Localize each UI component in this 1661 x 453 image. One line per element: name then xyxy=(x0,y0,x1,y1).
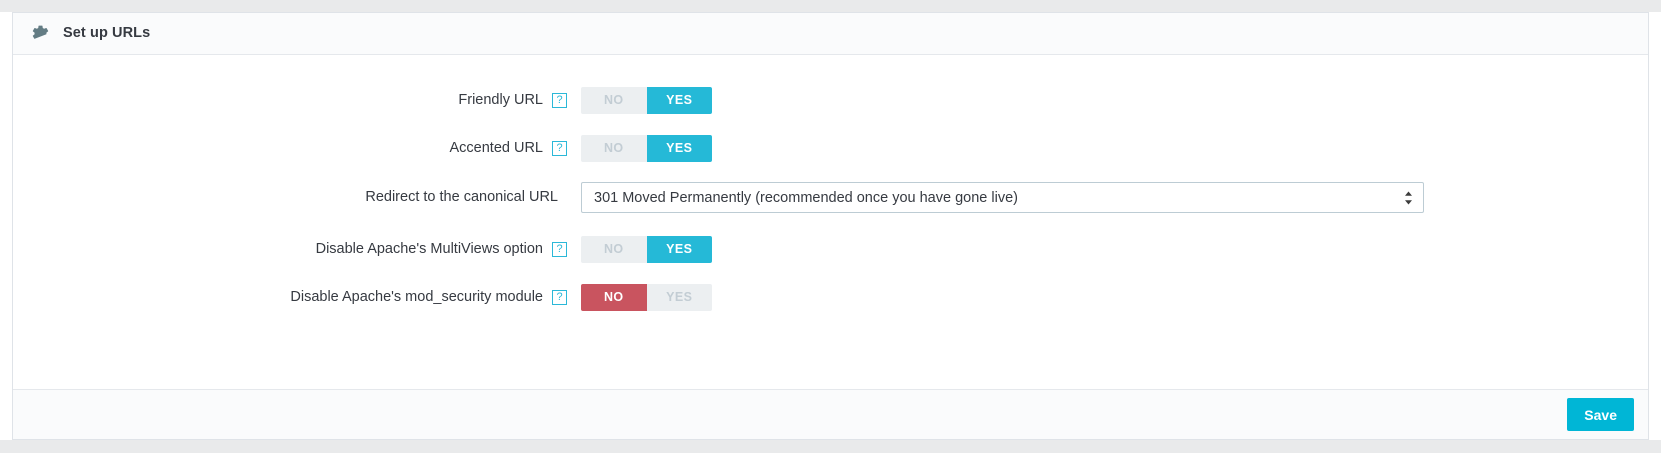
label-disable-mod-security: Disable Apache's mod_security module ? xyxy=(13,290,581,305)
form-row-friendly-url: Friendly URL ? NO YES xyxy=(13,86,1648,114)
label-accented-url: Accented URL ? xyxy=(13,141,581,156)
help-icon[interactable]: ? xyxy=(552,290,567,305)
set-up-urls-panel: Set up URLs Friendly URL ? NO YES xyxy=(12,12,1649,440)
select-wrapper: 301 Moved Permanently (recommended once … xyxy=(581,182,1424,213)
label-text: Accented URL xyxy=(450,141,544,156)
page-background-bottom xyxy=(0,440,1661,453)
label-text: Disable Apache's mod_security module xyxy=(290,290,543,305)
label-text: Friendly URL xyxy=(458,93,543,108)
control-area: NO YES xyxy=(581,135,1648,162)
help-icon[interactable]: ? xyxy=(552,242,567,257)
toggle-option-yes[interactable]: YES xyxy=(647,135,713,162)
control-area: 301 Moved Permanently (recommended once … xyxy=(581,182,1648,213)
panel-footer: Save xyxy=(13,389,1648,439)
label-canonical-redirect: Redirect to the canonical URL xyxy=(13,190,581,205)
control-area: NO YES xyxy=(581,87,1648,114)
label-friendly-url: Friendly URL ? xyxy=(13,93,581,108)
toggle-disable-mod-security[interactable]: NO YES xyxy=(581,284,712,311)
toggle-option-no[interactable]: NO xyxy=(581,284,647,311)
toggle-option-yes[interactable]: YES xyxy=(647,236,713,263)
form-row-disable-multiviews: Disable Apache's MultiViews option ? NO … xyxy=(13,235,1648,263)
form-row-canonical-redirect: Redirect to the canonical URL 301 Moved … xyxy=(13,182,1648,213)
form-row-disable-mod-security: Disable Apache's mod_security module ? N… xyxy=(13,283,1648,311)
save-button[interactable]: Save xyxy=(1567,398,1634,431)
panel-title: Set up URLs xyxy=(63,26,150,41)
select-canonical-redirect[interactable]: 301 Moved Permanently (recommended once … xyxy=(581,182,1424,213)
label-text: Disable Apache's MultiViews option xyxy=(316,242,543,257)
toggle-option-yes[interactable]: YES xyxy=(647,284,713,311)
control-area: NO YES xyxy=(581,284,1648,311)
gear-icon xyxy=(31,24,50,43)
control-area: NO YES xyxy=(581,236,1648,263)
toggle-option-yes[interactable]: YES xyxy=(647,87,713,114)
toggle-disable-multiviews[interactable]: NO YES xyxy=(581,236,712,263)
toggle-option-no[interactable]: NO xyxy=(581,236,647,263)
toggle-option-no[interactable]: NO xyxy=(581,135,647,162)
panel-body: Friendly URL ? NO YES Accented URL ? xyxy=(13,55,1648,389)
label-text: Redirect to the canonical URL xyxy=(365,190,558,205)
toggle-accented-url[interactable]: NO YES xyxy=(581,135,712,162)
toggle-option-no[interactable]: NO xyxy=(581,87,647,114)
help-icon[interactable]: ? xyxy=(552,93,567,108)
settings-screen: Set up URLs Friendly URL ? NO YES xyxy=(0,0,1661,453)
panel-header: Set up URLs xyxy=(13,13,1648,55)
label-disable-multiviews: Disable Apache's MultiViews option ? xyxy=(13,242,581,257)
help-icon[interactable]: ? xyxy=(552,141,567,156)
toggle-friendly-url[interactable]: NO YES xyxy=(581,87,712,114)
form-row-accented-url: Accented URL ? NO YES xyxy=(13,134,1648,162)
page-background-top xyxy=(0,0,1661,12)
